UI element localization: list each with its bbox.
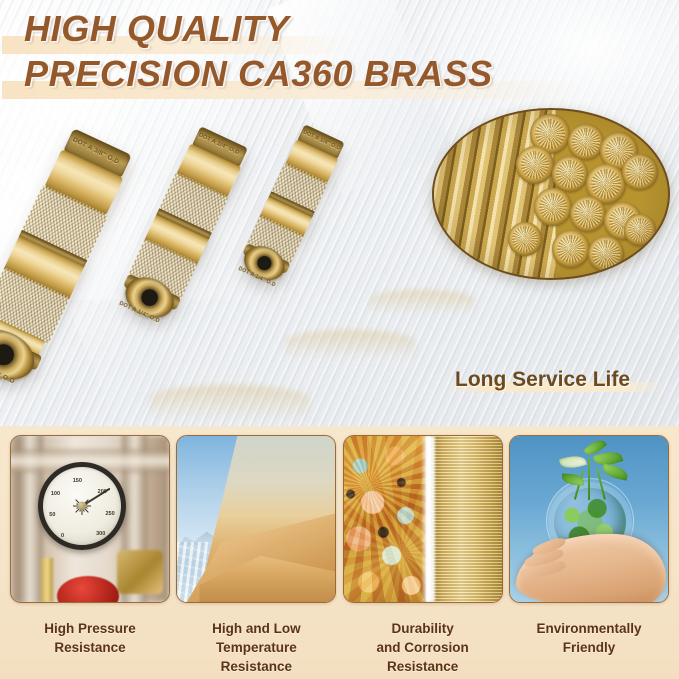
feature-card-durability-and-corrosion-resistance[interactable] xyxy=(343,435,503,603)
pressure-gauge-image: 0 50 100 150 200 250 300 xyxy=(11,436,169,602)
product-reflection xyxy=(150,385,310,426)
headline-line-2-row: PRECISION CA360 BRASS xyxy=(24,53,493,98)
oval-vignette xyxy=(434,110,668,278)
caption-environmentally-friendly: EnvironmentallyFriendly xyxy=(509,619,669,676)
snow-and-desert-image xyxy=(177,436,335,602)
pressure-gauge-dial: 0 50 100 150 200 250 300 xyxy=(38,462,126,550)
corrosion-vs-brass-image xyxy=(344,436,502,602)
brass-valve xyxy=(117,550,163,594)
feature-card-environmentally-friendly[interactable] xyxy=(509,435,669,603)
long-service-life-label: Long Service Life xyxy=(455,368,630,392)
eco-globe-image xyxy=(510,436,668,602)
caption-durability-and-corrosion-resistance: Durabilityand CorrosionResistance xyxy=(343,619,503,676)
tagline-text: Long Service Life xyxy=(455,368,630,392)
headline-line-1: HIGH QUALITY xyxy=(24,8,493,50)
headline-line-2: PRECISION CA360 BRASS xyxy=(24,53,493,95)
yellow-pipe xyxy=(41,558,53,602)
sprout-stem xyxy=(588,458,590,500)
headline-line-1-row: HIGH QUALITY xyxy=(24,8,493,53)
divider-highlight xyxy=(421,436,435,602)
caption-high-and-low-temperature-resistance: High and LowTemperatureResistance xyxy=(176,619,336,676)
caption-high-pressure-resistance: High PressureResistance xyxy=(10,619,170,676)
gauge-tick-label: 100 xyxy=(51,491,60,497)
gauge-tick-label: 150 xyxy=(73,478,82,484)
corrosion-texture xyxy=(344,436,426,602)
headline: HIGH QUALITY PRECISION CA360 BRASS xyxy=(24,8,493,98)
gauge-tick-label: 0 xyxy=(61,533,64,539)
feature-card-high-pressure-resistance[interactable]: 0 50 100 150 200 250 300 xyxy=(10,435,170,603)
gauge-hub xyxy=(78,502,87,511)
gauge-tick-label: 250 xyxy=(105,511,114,517)
brass-rod-stock-oval-inset xyxy=(432,108,670,280)
features-section: 0 50 100 150 200 250 300 xyxy=(0,426,679,679)
feature-card-high-and-low-temperature-resistance[interactable] xyxy=(176,435,336,603)
polished-brass-half xyxy=(431,436,502,602)
gauge-tick-label: 300 xyxy=(96,531,105,537)
feature-captions-row: High PressureResistance High and LowTemp… xyxy=(6,603,673,676)
product-reflection xyxy=(285,330,415,368)
product-marketing-image: HIGH QUALITY PRECISION CA360 BRASS DOT A… xyxy=(0,0,679,679)
feature-cards-row: 0 50 100 150 200 250 300 xyxy=(6,435,673,603)
gauge-tick-label: 50 xyxy=(49,512,55,518)
hero-product-section: HIGH QUALITY PRECISION CA360 BRASS DOT A… xyxy=(0,0,679,426)
product-reflection xyxy=(370,290,475,322)
